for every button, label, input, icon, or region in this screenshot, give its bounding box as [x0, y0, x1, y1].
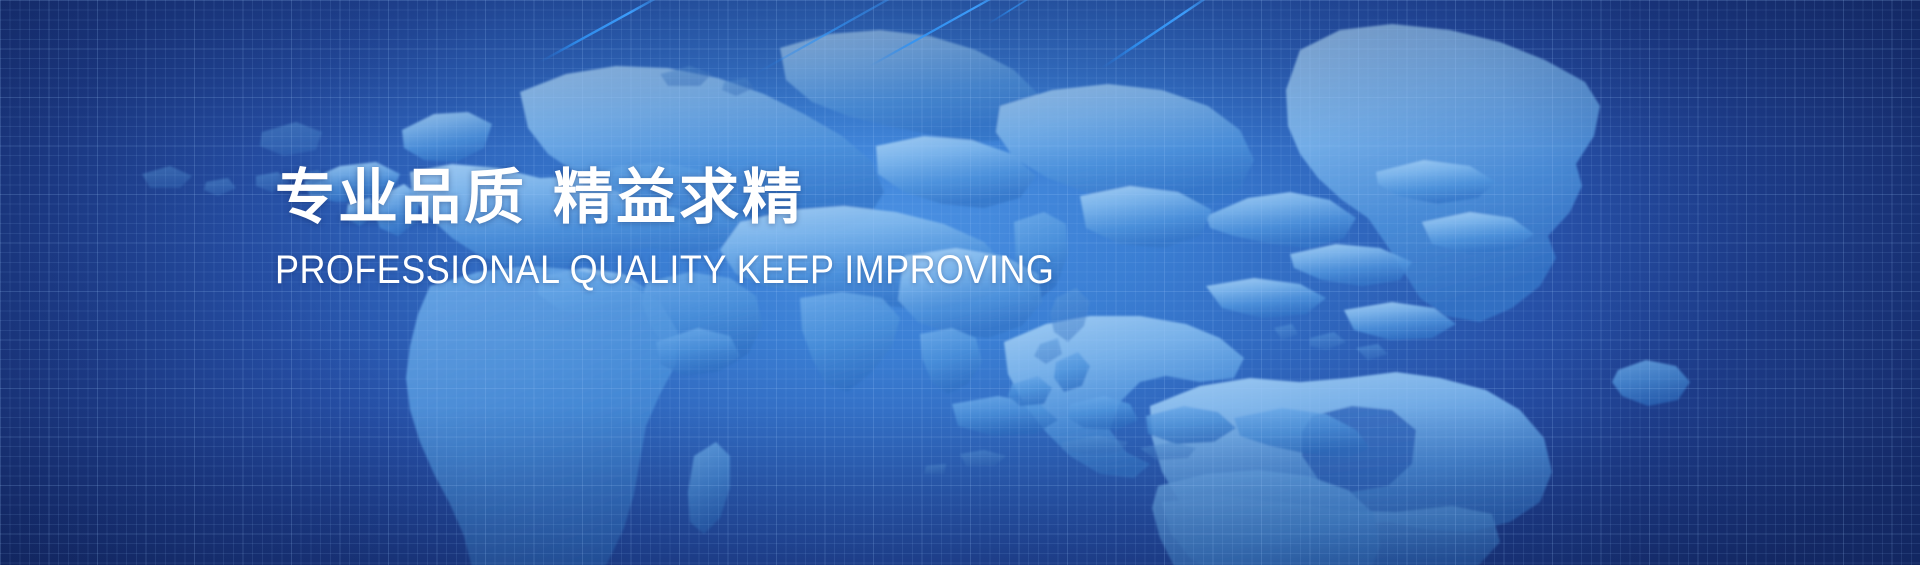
- hero-text-block: 专业品质精益求精 PROFESSIONAL QUALITY KEEP IMPRO…: [275, 168, 1141, 290]
- hero-banner: 专业品质精益求精 PROFESSIONAL QUALITY KEEP IMPRO…: [0, 0, 1920, 565]
- hero-headline: 专业品质精益求精: [275, 168, 1141, 228]
- headline-part-2: 精益求精: [553, 164, 805, 231]
- hero-subtitle: PROFESSIONAL QUALITY KEEP IMPROVING: [275, 250, 1054, 290]
- headline-part-1: 专业品质: [275, 164, 527, 231]
